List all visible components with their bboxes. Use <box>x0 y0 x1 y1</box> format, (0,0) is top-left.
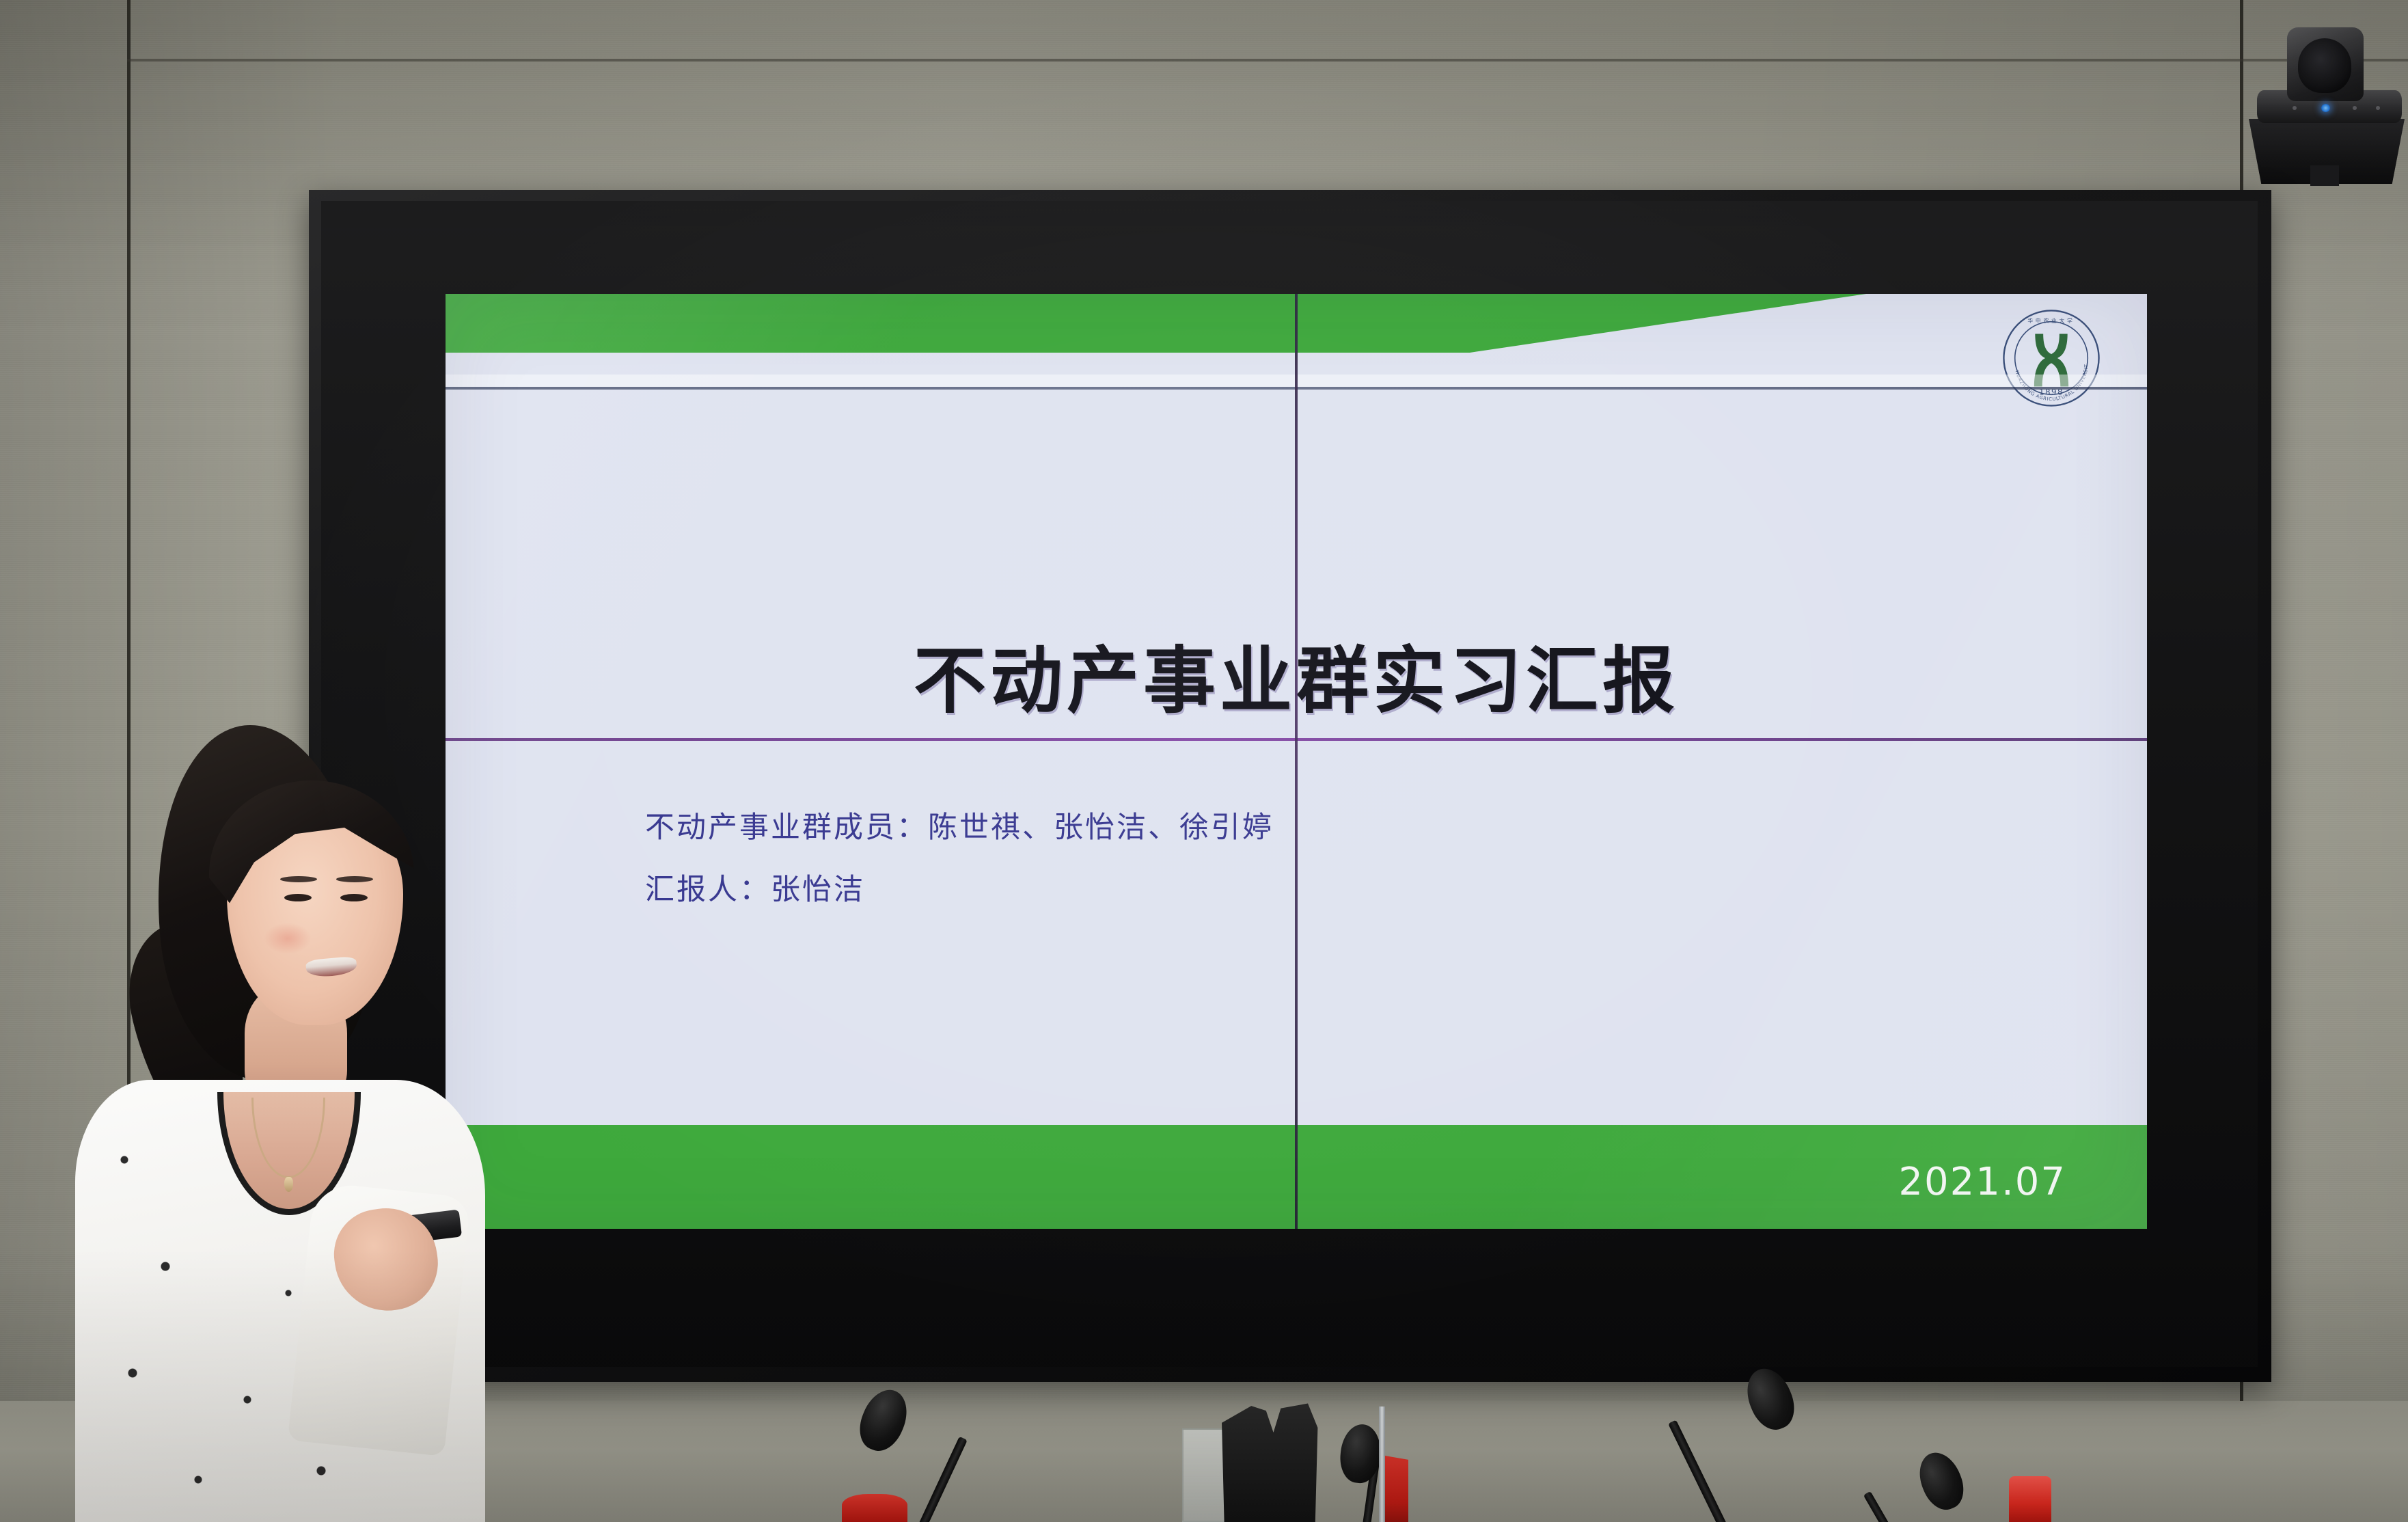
slide-subtitle-block: 不动产事业群成员：陈世祺、张怡洁、徐引婷 汇报人：张怡洁 <box>645 813 1807 938</box>
table-flag-cloth <box>1385 1456 1408 1522</box>
microphone-head <box>1739 1362 1802 1437</box>
presenter <box>75 718 499 1522</box>
svg-text:华中农业大学: 华中农业大学 <box>2027 317 2075 324</box>
video-wall-seam-vertical <box>1295 294 1298 1229</box>
microphone-head <box>852 1383 915 1458</box>
presenter-eyebrow-right <box>336 876 373 882</box>
camera-status-led-icon <box>2321 104 2330 112</box>
camera-sensor-dot <box>2376 106 2380 110</box>
slide-subtitle-presenter: 汇报人：张怡洁 <box>645 875 1807 905</box>
presenter-cheek <box>264 923 312 954</box>
camera-sensor-dot <box>2353 106 2357 110</box>
presentation-slide: 1898 华中农业大学 HUAZHONG AGRICULTURAL UNIVER… <box>446 294 2147 1229</box>
microphone-2 <box>1326 1428 1531 1522</box>
camera-sensor-dot <box>2293 106 2297 110</box>
video-wall-display: 1898 华中农业大学 HUAZHONG AGRICULTURAL UNIVER… <box>309 190 2271 1382</box>
presenter-eye-right <box>340 894 368 901</box>
wall-seam-top <box>127 59 2408 62</box>
red-marker-cap <box>2009 1476 2051 1522</box>
camera-lens-icon <box>2298 38 2351 93</box>
presenter-eyebrow-left <box>280 876 317 882</box>
presenter-necklace-pendant <box>284 1177 293 1192</box>
table-flag-pole <box>1379 1407 1385 1522</box>
microphone-4 <box>1886 1449 2091 1522</box>
camera-arm <box>2310 165 2339 186</box>
red-object-left <box>842 1494 907 1522</box>
microphone-head <box>1912 1446 1971 1515</box>
ptz-camera <box>2245 3 2408 184</box>
slide-date: 2021.07 <box>1898 1160 2066 1204</box>
presenter-eye-left <box>284 894 312 901</box>
university-logo-icon: 1898 华中农业大学 HUAZHONG AGRICULTURAL UNIVER… <box>2001 308 2102 409</box>
slide-subtitle-members: 不动产事业群成员：陈世祺、张怡洁、徐引婷 <box>645 813 1807 843</box>
